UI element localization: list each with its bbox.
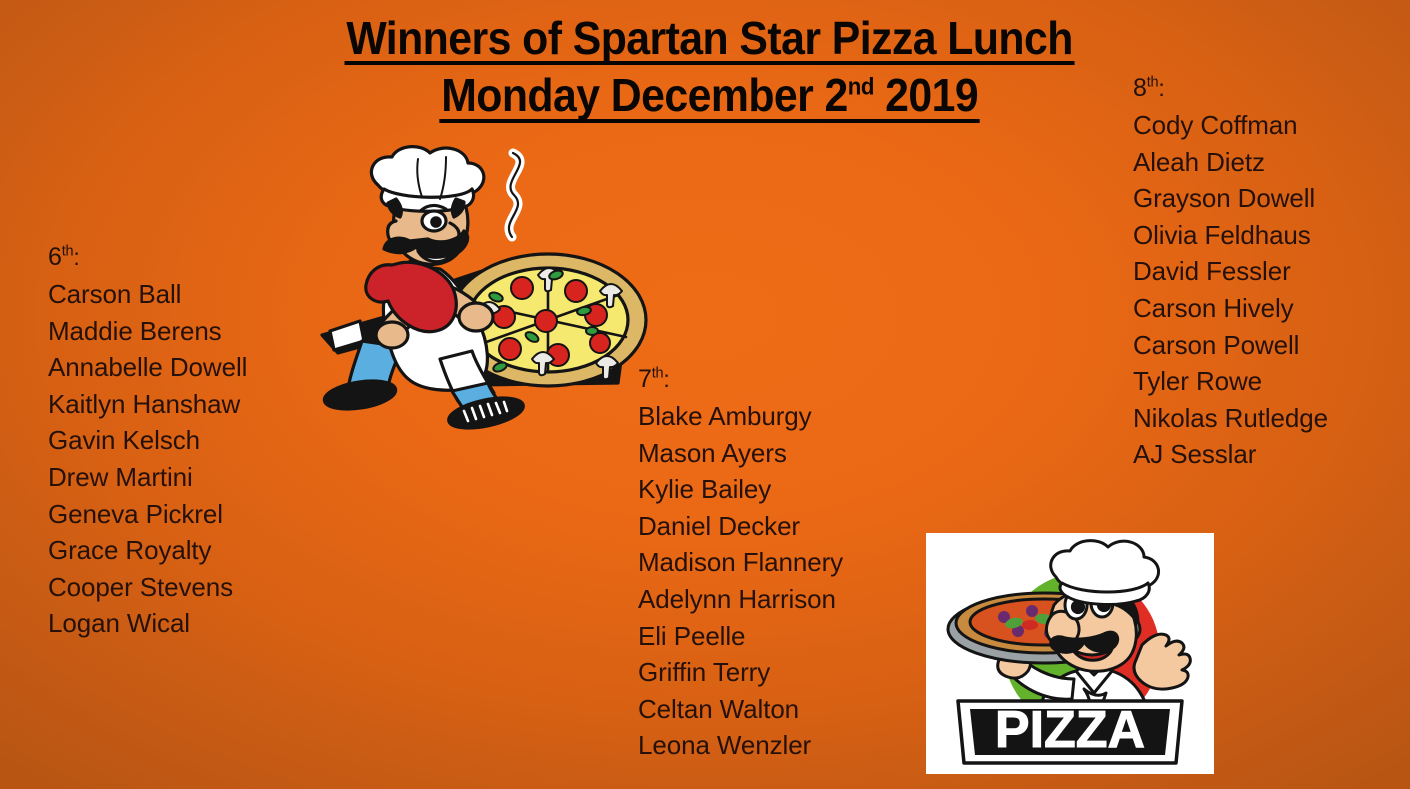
- winner-name: Madison Flannery: [638, 544, 843, 581]
- winner-name: Blake Amburgy: [638, 398, 843, 435]
- title-ordinal-suffix: nd: [848, 74, 874, 101]
- pizza-logo: PIZZA: [926, 533, 1214, 774]
- winner-name: Celtan Walton: [638, 691, 843, 728]
- winner-name: Logan Wical: [48, 605, 247, 642]
- grade-6-heading-ordinal: th: [62, 244, 74, 260]
- grade-8-heading-colon: :: [1158, 75, 1164, 101]
- winner-name: Eli Peelle: [638, 618, 843, 655]
- title-line-2-prefix: Monday December 2: [442, 69, 849, 121]
- grade-6-winners-column: 6th: Carson Ball Maddie Berens Annabelle…: [48, 243, 247, 642]
- title-line-2-suffix: 2019: [874, 69, 978, 121]
- winner-name: Kylie Bailey: [638, 471, 843, 508]
- winner-name: Carson Ball: [48, 276, 247, 313]
- winner-name: Tyler Rowe: [1133, 363, 1328, 400]
- winner-name: Maddie Berens: [48, 313, 247, 350]
- grade-6-heading-colon: :: [73, 244, 79, 270]
- slide-canvas: Winners of Spartan Star Pizza Lunch Mond…: [0, 0, 1410, 789]
- title-line-2: Monday December 2nd 2019: [438, 71, 982, 121]
- winner-name: Leona Wenzler: [638, 727, 843, 764]
- winner-name: Carson Powell: [1133, 327, 1328, 364]
- grade-7-heading-colon: :: [663, 366, 669, 392]
- grade-6-heading: 6th:: [48, 243, 247, 272]
- winner-name: Aleah Dietz: [1133, 144, 1328, 181]
- winner-name: Olivia Feldhaus: [1133, 217, 1328, 254]
- grade-8-heading-number: 8: [1133, 74, 1147, 102]
- grade-7-winners-column: 7th: Blake Amburgy Mason Ayers Kylie Bai…: [638, 365, 843, 764]
- page-title: Winners of Spartan Star Pizza Lunch Mond…: [300, 14, 1120, 122]
- grade-8-heading: 8th:: [1133, 74, 1328, 103]
- title-line-1: Winners of Spartan Star Pizza Lunch: [343, 14, 1077, 64]
- winner-name: Daniel Decker: [638, 508, 843, 545]
- grade-6-heading-number: 6: [48, 243, 62, 271]
- winner-name: Kaitlyn Hanshaw: [48, 386, 247, 423]
- winner-name: Carson Hively: [1133, 290, 1328, 327]
- winner-name: AJ Sesslar: [1133, 436, 1328, 473]
- winner-name: Cody Coffman: [1133, 107, 1328, 144]
- winner-name: Geneva Pickrel: [48, 496, 247, 533]
- grade-8-heading-ordinal: th: [1147, 75, 1159, 91]
- grade-7-heading-ordinal: th: [652, 366, 664, 382]
- winner-name: Griffin Terry: [638, 654, 843, 691]
- winner-name: Gavin Kelsch: [48, 422, 247, 459]
- grade-7-heading-number: 7: [638, 365, 652, 393]
- chef-with-pizza-peel-illustration: [300, 145, 665, 435]
- winner-name: David Fessler: [1133, 253, 1328, 290]
- winner-name: Annabelle Dowell: [48, 349, 247, 386]
- winner-name: Nikolas Rutledge: [1133, 400, 1328, 437]
- winner-name: Drew Martini: [48, 459, 247, 496]
- pizza-banner-text: PIZZA: [995, 701, 1145, 759]
- grade-8-winners-column: 8th: Cody Coffman Aleah Dietz Grayson Do…: [1133, 74, 1328, 473]
- winner-name: Adelynn Harrison: [638, 581, 843, 618]
- grade-7-heading: 7th:: [638, 365, 843, 394]
- winner-name: Cooper Stevens: [48, 569, 247, 606]
- winner-name: Grayson Dowell: [1133, 180, 1328, 217]
- winner-name: Grace Royalty: [48, 532, 247, 569]
- winner-name: Mason Ayers: [638, 435, 843, 472]
